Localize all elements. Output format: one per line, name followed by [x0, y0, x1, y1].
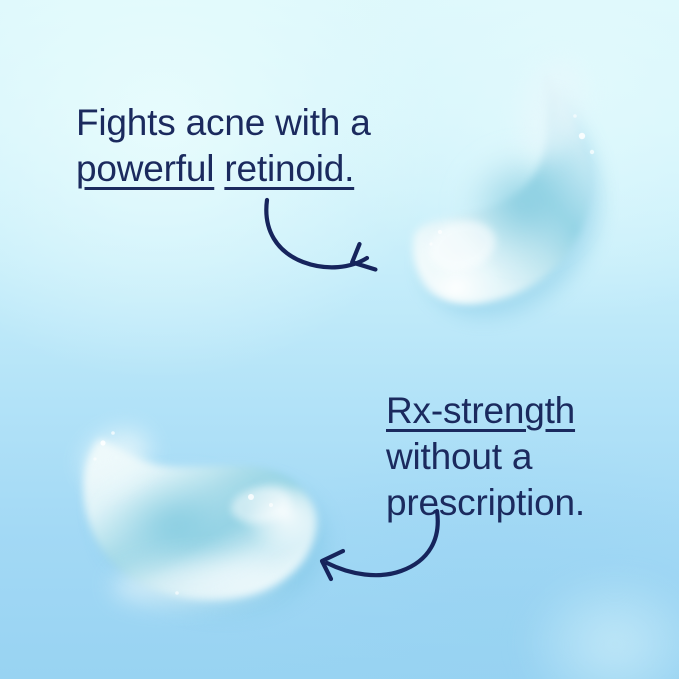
curved-arrow-right-icon — [255, 192, 385, 282]
headline-fights-acne: Fights acne with a powerful retinoid. — [76, 100, 371, 192]
gel-swatch-lower-left — [55, 405, 345, 625]
headline-top-line1: Fights acne with a — [76, 100, 371, 146]
background-gel-smudge — [520, 569, 679, 679]
gel-swatch-upper-right — [370, 40, 650, 330]
headline-bottom-line2: without a — [386, 434, 585, 480]
headline-top-underlined-powerful: powerful — [76, 148, 214, 189]
curved-arrow-left-icon — [305, 505, 450, 595]
product-benefit-graphic: Fights acne with a powerful retinoid. Rx… — [0, 0, 679, 679]
headline-top-underlined-retinoid: retinoid. — [224, 148, 354, 189]
headline-top-space — [214, 148, 224, 189]
headline-top-line2: powerful retinoid. — [76, 146, 371, 192]
headline-bottom-line1: Rx-strength — [386, 388, 585, 434]
